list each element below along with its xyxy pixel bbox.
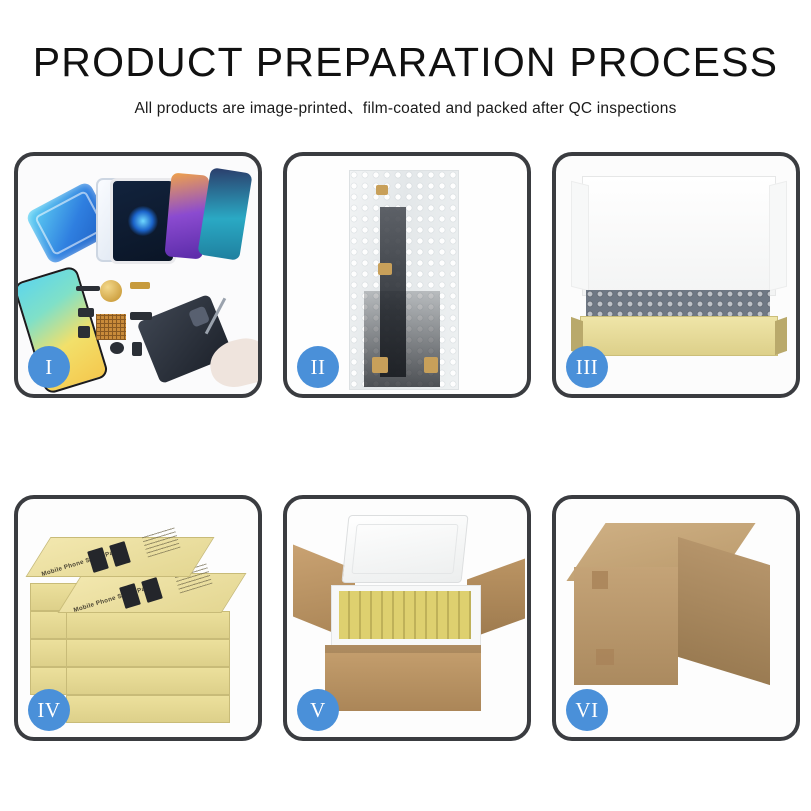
tape-strip-icon: [592, 571, 608, 589]
step-badge-1: I: [28, 346, 70, 388]
white-box-lid-icon: [582, 176, 776, 296]
process-step-5: V: [283, 495, 531, 741]
speaker-part-icon: [110, 342, 124, 354]
connector-grid-icon: [96, 314, 126, 340]
page-title: PRODUCT PREPARATION PROCESS: [0, 42, 811, 83]
process-step-4: Mobile Phone Spare Parts Mobile Phone Sp…: [14, 495, 262, 741]
header: PRODUCT PREPARATION PROCESS All products…: [0, 0, 811, 118]
foam-lid-icon: [341, 515, 468, 583]
camera-part-icon: [132, 342, 142, 356]
process-step-2: II: [283, 152, 531, 398]
kraft-box-icon: [66, 695, 230, 723]
gold-connector-icon: [378, 263, 392, 275]
step-badge-5: V: [297, 689, 339, 731]
step-badge-2: II: [297, 346, 339, 388]
ribbon-part-icon: [130, 312, 152, 320]
tape-strip-icon: [596, 649, 614, 665]
gold-bracket-icon: [372, 357, 388, 373]
step-badge-6: VI: [566, 689, 608, 731]
process-step-6: VI: [552, 495, 800, 741]
kraft-box-icon: [66, 611, 230, 639]
process-step-3: III: [552, 152, 800, 398]
gold-component-icon: [100, 280, 122, 302]
flex-cable-icon: [130, 282, 150, 289]
gold-tab-icon: [376, 185, 388, 195]
product-preparation-infographic: PRODUCT PREPARATION PROCESS All products…: [0, 0, 811, 811]
chip-icon: [76, 286, 100, 291]
bubble-wrap-bag-icon: [349, 170, 459, 390]
kraft-box-icon: [66, 667, 230, 695]
gold-bracket-2-icon: [424, 357, 438, 373]
carton-front-icon: [574, 567, 678, 685]
kraft-box-icon: [66, 639, 230, 667]
carton-body-icon: [325, 645, 481, 711]
button-part-icon: [78, 326, 90, 338]
carton-side-icon: [678, 537, 770, 685]
step-badge-3: III: [566, 346, 608, 388]
kraft-box-base-icon: [580, 316, 778, 356]
packed-kraft-boxes-icon: [339, 591, 471, 639]
page-subtitle: All products are image-printed、film-coat…: [0, 96, 811, 118]
process-step-grid: I II III: [14, 152, 800, 741]
small-part-icon: [78, 308, 94, 317]
process-step-1: I: [14, 152, 262, 398]
step-badge-4: IV: [28, 689, 70, 731]
